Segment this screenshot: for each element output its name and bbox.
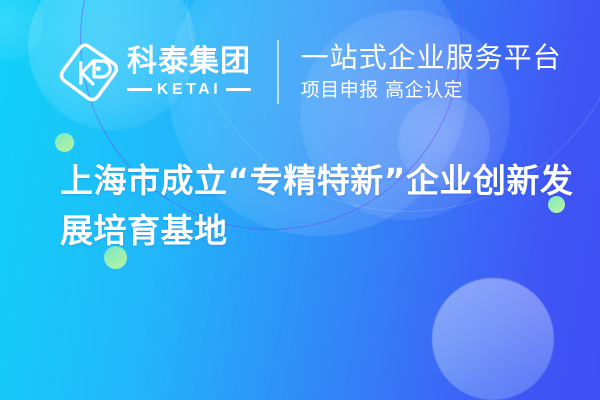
background-blob-top-left: [0, 0, 44, 60]
banner-headline: 上海市成立“专精特新”企业创新发展培育基地: [60, 156, 580, 256]
logo-wordmark: 科泰集团 KETAI: [127, 47, 251, 98]
logo-dash-left-icon: [127, 88, 152, 91]
logo-company-name-cn: 科泰集团: [127, 47, 251, 77]
tagline-block: 一站式企业服务平台 项目申报 高企认定: [301, 43, 562, 101]
company-logo[interactable]: 科泰集团 KETAI: [58, 41, 251, 103]
accent-dot-green-upper-left: [55, 133, 74, 152]
logo-company-name-en: KETAI: [157, 82, 221, 98]
tagline-main: 一站式企业服务平台: [301, 43, 562, 73]
background-circle-bottom-right: [432, 278, 554, 400]
logo-dash-right-icon: [226, 88, 251, 91]
logo-company-name-en-row: KETAI: [127, 82, 251, 98]
promo-banner: 科泰集团 KETAI 一站式企业服务平台 项目申报 高企认定 上海市成立“专精特…: [0, 0, 600, 400]
banner-header: 科泰集团 KETAI 一站式企业服务平台 项目申报 高企认定: [58, 40, 562, 104]
tagline-sub: 项目申报 高企认定: [301, 80, 562, 101]
ketai-kp-monogram-icon: [58, 41, 120, 103]
header-divider: [277, 40, 279, 104]
